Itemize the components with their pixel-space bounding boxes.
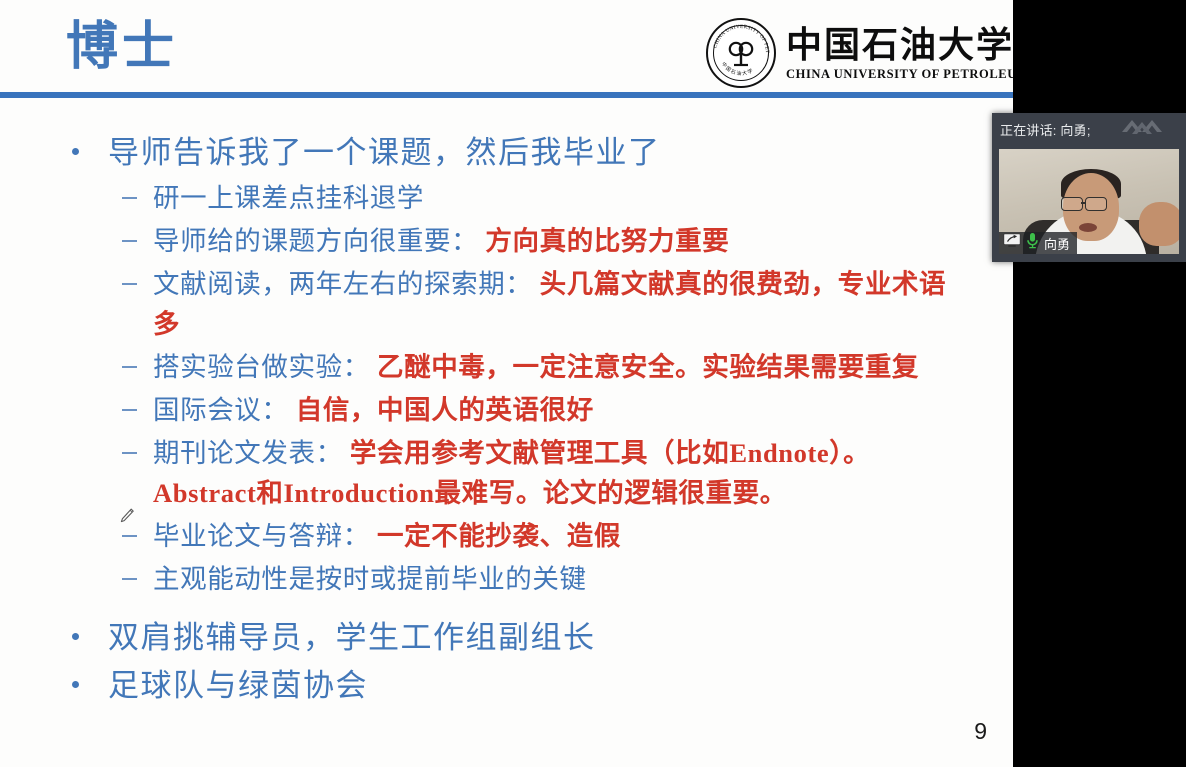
participant-name-bar: 向勇 [999, 232, 1077, 254]
bullet-dash-icon [122, 578, 137, 580]
bullet-text: 导师告诉我了一个课题，然后我毕业了 [108, 135, 661, 170]
bullet-level2: 文献阅读，两年左右的探索期： 头几篇文献真的很费劲，专业术语多 [0, 264, 1013, 344]
participant-name-label: 向勇 [1044, 234, 1070, 253]
presentation-slide[interactable]: 博士 CHINA UNIVERSITY OF PETROLEUM 中国石油大学 [0, 0, 1013, 767]
bullet-dash-icon [122, 197, 137, 199]
bullet-emphasis: 自信，中国人的英语很好 [289, 395, 594, 425]
bullet-text: 足球队与绿茵协会 [108, 668, 368, 703]
bullet-level2: 导师给的课题方向很重要： 方向真的比努力重要 [0, 221, 1013, 261]
bullet-text: 主观能动性是按时或提前毕业的关键 [153, 564, 587, 594]
glasses-right-lens [1085, 197, 1107, 211]
bullet-level2: 期刊论文发表： 学会用参考文献管理工具（比如Endnote）。Abstract和… [0, 433, 1013, 513]
logo-wordmark: 中国石油大学 CHINA UNIVERSITY OF PETROLEUM [786, 25, 1013, 82]
screen-root: 博士 CHINA UNIVERSITY OF PETROLEUM 中国石油大学 [0, 0, 1186, 767]
logo-english-name: CHINA UNIVERSITY OF PETROLEUM [786, 66, 1013, 82]
bullet-dash-icon [122, 409, 137, 411]
page-title: 博士 [66, 17, 178, 79]
bullet-dash-icon [122, 452, 137, 454]
bullet-level2: 研一上课差点挂科退学 [0, 178, 1013, 218]
glasses-left-lens [1061, 197, 1083, 211]
university-seal-icon: CHINA UNIVERSITY OF PETROLEUM 中国石油大学 [706, 18, 776, 88]
bullet-emphasis: 一定不能抄袭、造假 [370, 521, 621, 551]
bullet-text: 双肩挑辅导员，学生工作组副组长 [108, 620, 596, 655]
university-logo: CHINA UNIVERSITY OF PETROLEUM 中国石油大学 [706, 18, 1002, 88]
participant-video-feed[interactable]: 向勇 [999, 149, 1179, 254]
bullet-emphasis: 乙醚中毒，一定注意安全。实验结果需要重复 [370, 352, 919, 382]
bullet-dash-icon [122, 366, 137, 368]
active-speaker-label: 正在讲话: 向勇; [1000, 120, 1091, 139]
slide-body: 导师告诉我了一个课题，然后我毕业了 研一上课差点挂科退学 导师给的课题方向很重要… [0, 130, 1013, 711]
bullet-level2: 毕业论文与答辩： 一定不能抄袭、造假 [0, 516, 1013, 556]
bullet-text: 文献阅读，两年左右的探索期： [153, 269, 532, 299]
hand-shape [1139, 202, 1179, 246]
header-divider-rule [0, 92, 1013, 98]
bullet-level2: 搭实验台做实验： 乙醚中毒，一定注意安全。实验结果需要重复 [0, 347, 1013, 387]
slide-page-number: 9 [974, 718, 987, 745]
screen-share-icon[interactable] [1003, 233, 1021, 253]
bullet-text: 期刊论文发表： [153, 438, 343, 468]
video-conference-panel[interactable]: 正在讲话: 向勇; [992, 113, 1186, 262]
bullet-level1: 双肩挑辅导员，学生工作组副组长 [0, 615, 1013, 661]
bullet-text: 研一上课差点挂科退学 [153, 183, 424, 213]
bullet-level1: 足球队与绿茵协会 [0, 663, 1013, 709]
pen-cursor-icon [118, 498, 136, 518]
bullet-dot-icon [72, 681, 79, 688]
bullet-dash-icon [122, 283, 137, 285]
logo-chinese-name: 中国石油大学 [786, 25, 1013, 65]
bullet-level2: 国际会议： 自信，中国人的英语很好 [0, 390, 1013, 430]
bottom-bullet-group: 双肩挑辅导员，学生工作组副组长 足球队与绿茵协会 [0, 615, 1013, 709]
bullet-text: 搭实验台做实验： [153, 352, 370, 382]
bullet-dash-icon [122, 240, 137, 242]
glasses-bridge [1081, 202, 1085, 204]
bullet-text: 毕业论文与答辩： [153, 521, 370, 551]
bullet-dot-icon [72, 148, 79, 155]
mouth-shape [1079, 223, 1097, 232]
video-panel-header[interactable]: 正在讲话: 向勇; [992, 113, 1186, 145]
bullet-dash-icon [122, 535, 137, 537]
microphone-active-icon[interactable] [1026, 232, 1039, 254]
bullet-level1: 导师告诉我了一个课题，然后我毕业了 [0, 130, 1013, 176]
bullet-dot-icon [72, 633, 79, 640]
chevrons-icon [1118, 116, 1174, 143]
bullet-emphasis: 方向真的比努力重要 [478, 226, 729, 256]
slide-header: 博士 CHINA UNIVERSITY OF PETROLEUM 中国石油大学 [0, 0, 1013, 93]
bullet-text: 导师给的课题方向很重要： [153, 226, 478, 256]
bullet-level2: 主观能动性是按时或提前毕业的关键 [0, 559, 1013, 599]
bullet-text: 国际会议： [153, 395, 289, 425]
